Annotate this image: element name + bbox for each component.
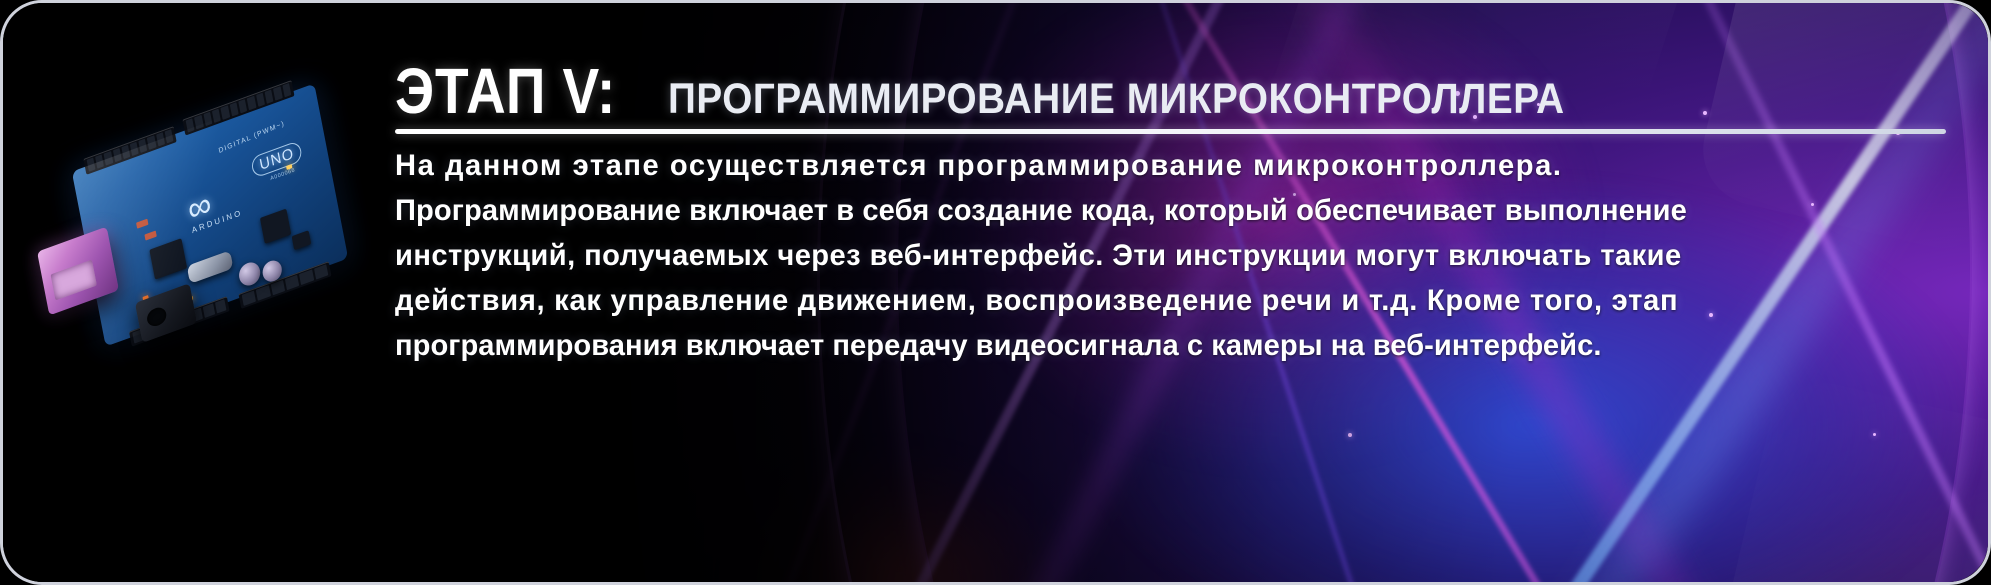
pin-header-analog [238,261,331,309]
title-divider [395,129,1946,134]
body-paragraph: На данном этапе осуществляется программи… [395,146,1946,365]
electrolytic-capacitor [261,258,284,285]
electrolytic-capacitor [237,259,262,288]
arduino-infinity-icon: ∞ [185,170,262,226]
crystal-oscillator [187,250,234,284]
mcu-chip [149,238,187,279]
power-led [286,164,292,170]
resistor [144,231,156,241]
pin-header-digital-left [83,126,176,175]
voltage-regulator [292,230,312,250]
body-line: инструкций, получаемых через веб-интерфе… [395,236,1899,275]
pin-header-digital-right [182,80,294,136]
digital-header-label: DIGITAL (PWM~) [218,120,286,155]
text-column: ЭТАП V: ПРОГРАММИРОВАНИЕ МИКРОКОНТРОЛЛЕР… [395,61,1946,371]
slide-content: DIGITAL (PWM~) ∞ ARDUINO UNO A000066 [3,3,1988,582]
body-line: действия, как управление движением, восп… [395,281,1899,320]
arduino-model-badge: UNO [250,140,303,179]
body-line: программирования включает передачу видео… [395,326,1899,365]
arduino-pcb: DIGITAL (PWM~) ∞ ARDUINO UNO A000066 [72,83,348,346]
arduino-logo: ∞ ARDUINO [185,170,265,240]
resistor [136,219,148,229]
body-line: Программирование включает в себя создани… [395,191,1899,230]
stage-label: ЭТАП V: [395,61,616,122]
slide-card: DIGITAL (PWM~) ∞ ARDUINO UNO A000066 [0,0,1991,585]
arduino-board-illustration: DIGITAL (PWM~) ∞ ARDUINO UNO A000066 [33,111,383,371]
stage-topic: ПРОГРАММИРОВАНИЕ МИКРОКОНТРОЛЛЕРА [668,78,1565,121]
page-title: ЭТАП V: ПРОГРАММИРОВАНИЕ МИКРОКОНТРОЛЛЕР… [395,61,1946,122]
usb-interface-chip [260,209,291,244]
arduino-model-code: A000066 [270,167,296,182]
arduino-wordmark: ARDUINO [191,200,264,235]
body-line: На данном этапе осуществляется программи… [395,146,1899,185]
